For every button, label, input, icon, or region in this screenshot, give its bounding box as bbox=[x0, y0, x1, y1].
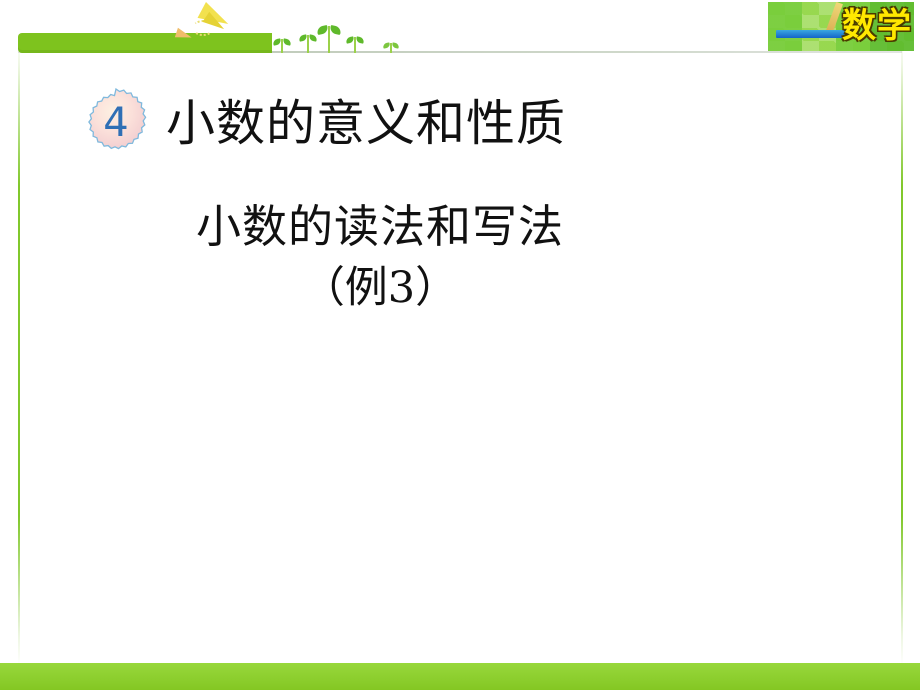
left-vertical-rule bbox=[18, 36, 20, 666]
right-vertical-rule bbox=[901, 36, 903, 666]
sprout-leaf-right bbox=[329, 25, 341, 35]
header-green-bar bbox=[18, 33, 272, 53]
main-title-line-1: 小数的读法和写法 bbox=[0, 196, 760, 258]
main-title-block: 小数的读法和写法 （例3） bbox=[0, 196, 760, 318]
footer-green-bar bbox=[0, 663, 920, 690]
chapter-heading: 4 小数的意义和性质 bbox=[78, 86, 566, 162]
math-subject-logo: 数学 bbox=[768, 2, 914, 51]
sprout-leaf-left bbox=[316, 25, 328, 35]
sprout-leaf-right bbox=[282, 38, 291, 46]
pencil-bar-icon bbox=[776, 30, 848, 38]
main-title-line-2: （例3） bbox=[0, 258, 760, 318]
subject-logo-label: 数学 bbox=[842, 4, 912, 48]
sprout-leaf-right bbox=[355, 36, 364, 44]
chapter-number: 4 bbox=[78, 86, 154, 162]
sprout-leaf-right bbox=[308, 34, 317, 42]
chapter-number-badge: 4 bbox=[78, 86, 154, 162]
chapter-title: 小数的意义和性质 bbox=[166, 95, 566, 153]
slide-canvas: 数学 4 小数的意义和性质 小数的读法和写法 （例3） bbox=[0, 0, 920, 690]
sprout-leaf-right bbox=[392, 42, 400, 48]
sprout-stem bbox=[328, 26, 330, 53]
header-band: 数学 bbox=[0, 0, 920, 58]
